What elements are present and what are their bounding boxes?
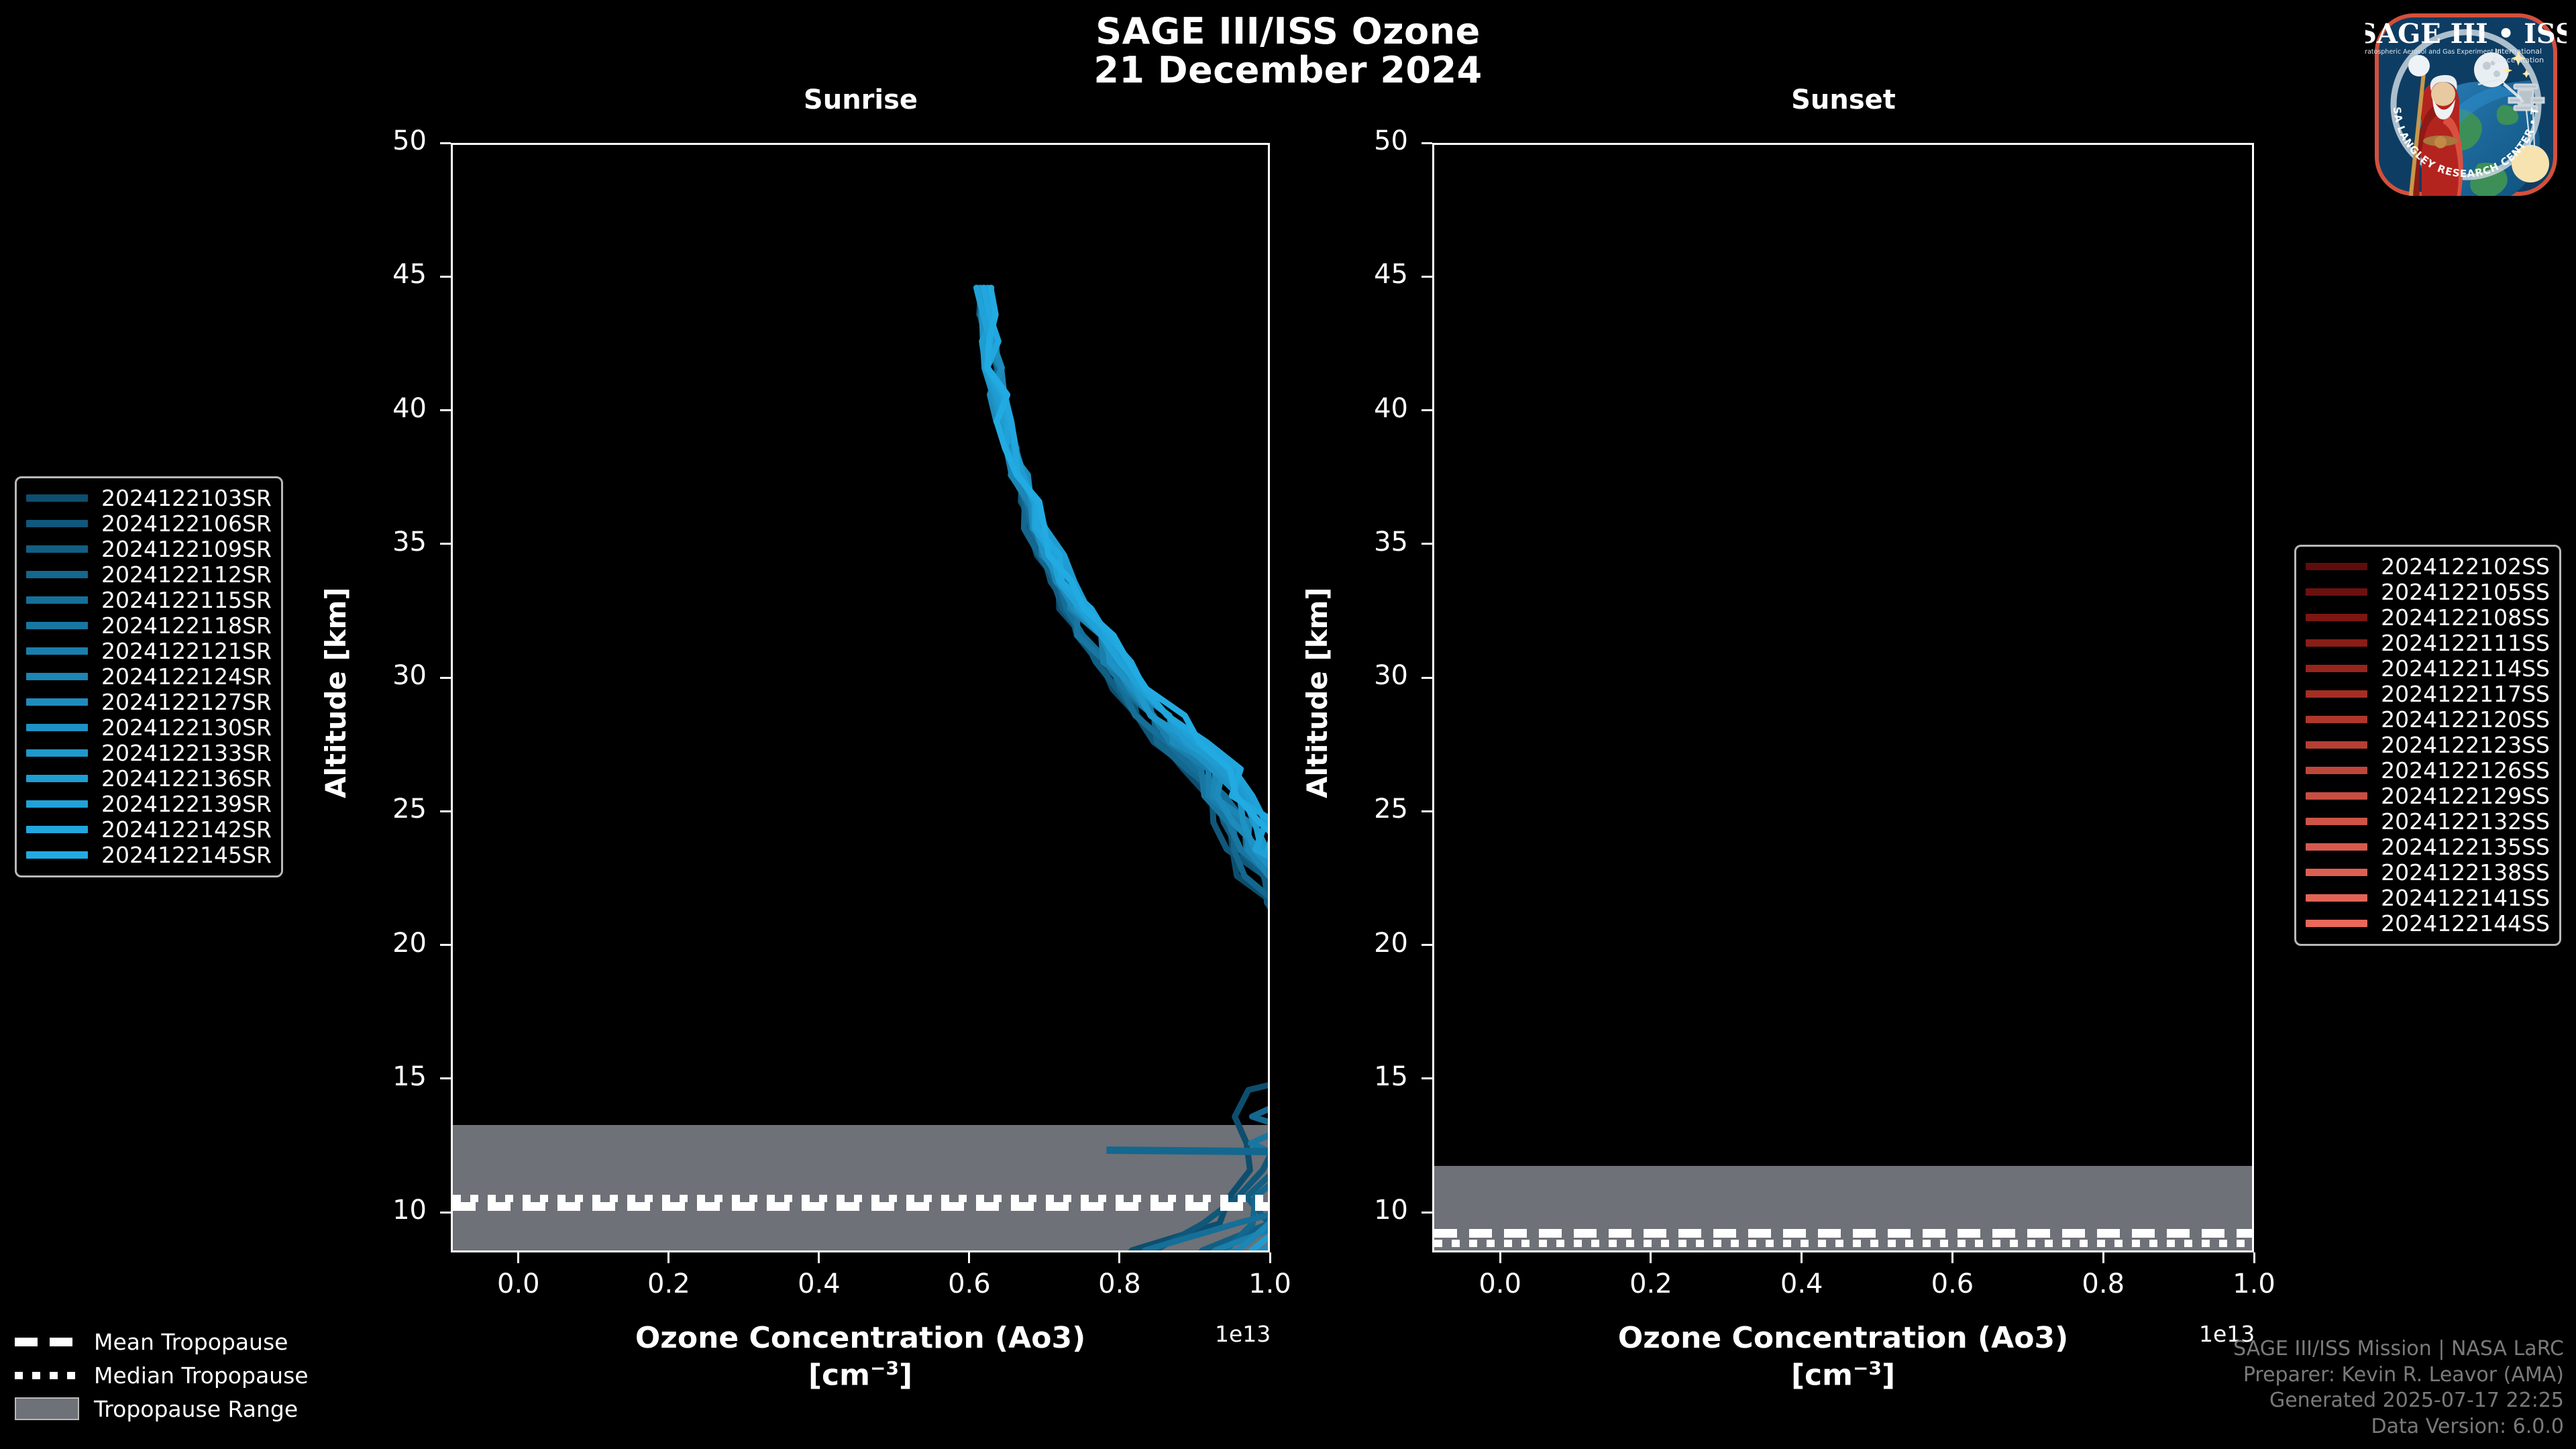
legend-item[interactable]: 2024122111SS xyxy=(2306,630,2550,655)
legend-item-label: 2024122120SS xyxy=(2381,706,2550,733)
legend-item-label: 2024122142SR xyxy=(101,816,272,843)
x-axis-label-line-1: Ozone Concentration (Ao3) xyxy=(1392,1320,2294,1356)
x-axis-label-line-1: Ozone Concentration (Ao3) xyxy=(411,1320,1310,1356)
y-tick xyxy=(1421,1212,1432,1214)
x-tick-label: 0.4 xyxy=(1741,1269,1862,1299)
profile-curves-sunrise xyxy=(453,145,1270,1252)
y-tick xyxy=(440,1077,451,1079)
title-line-2: 21 December 2024 xyxy=(0,51,2576,90)
x-tick xyxy=(2102,1252,2104,1263)
legend-item[interactable]: 2024122120SS xyxy=(2306,706,2550,732)
legend-item-label: 2024122126SS xyxy=(2381,757,2550,784)
y-tick-label: 15 xyxy=(343,1061,427,1092)
line-swatch-icon xyxy=(26,545,88,553)
logo-subtitle-right-2: Space Station xyxy=(2493,56,2544,64)
y-tick-label: 50 xyxy=(343,125,427,156)
y-tick-label: 25 xyxy=(343,794,427,824)
line-swatch-icon xyxy=(2306,792,2367,800)
legend-item-label: 2024122109SR xyxy=(101,536,272,562)
legend-item-label: 2024122112SR xyxy=(101,561,272,588)
line-swatch-icon xyxy=(2306,614,2367,621)
legend-item[interactable]: 2024122103SR xyxy=(26,485,272,511)
legend-item[interactable]: 2024122132SS xyxy=(2306,808,2550,834)
y-tick-label: 25 xyxy=(1325,794,1408,824)
x-tick xyxy=(1650,1252,1652,1263)
legend-item-label: 2024122114SS xyxy=(2381,655,2550,682)
y-tick-label: 45 xyxy=(343,259,427,290)
legend-item[interactable]: 2024122130SR xyxy=(26,714,272,740)
x-axis-label-units: [cm−3] xyxy=(411,1356,1310,1394)
y-tick-label: 30 xyxy=(343,660,427,691)
y-tick xyxy=(440,944,451,946)
axes-sunrise xyxy=(451,143,1270,1252)
legend-item[interactable]: 2024122141SS xyxy=(2306,885,2550,910)
x-tick xyxy=(667,1252,669,1263)
credits-line-preparer: Preparer: Kevin R. Leavor (AMA) xyxy=(2233,1362,2564,1388)
legend-item-label: 2024122102SS xyxy=(2381,553,2550,580)
legend-item[interactable]: 2024122142SR xyxy=(26,816,272,842)
line-swatch-icon xyxy=(26,673,88,680)
y-tick xyxy=(440,810,451,812)
y-tick-label: 30 xyxy=(1325,660,1408,691)
y-tick-label: 20 xyxy=(343,928,427,959)
line-swatch-icon xyxy=(26,520,88,527)
y-tick-label: 20 xyxy=(1325,928,1408,959)
legend-item[interactable]: 2024122106SR xyxy=(26,511,272,536)
line-swatch-icon xyxy=(2306,920,2367,927)
y-tick xyxy=(440,142,451,144)
x-tick-label: 1.0 xyxy=(2194,1269,2314,1299)
x-tick-label: 0.2 xyxy=(1591,1269,1711,1299)
units-prefix: [cm xyxy=(808,1358,870,1393)
line-swatch-icon xyxy=(2306,690,2367,698)
legend-item-tropopause-range: Tropopause Range xyxy=(15,1392,309,1426)
legend-item[interactable]: 2024122105SS xyxy=(2306,579,2550,604)
line-swatch-icon xyxy=(2306,741,2367,749)
x-tick xyxy=(1499,1252,1501,1263)
x-tick xyxy=(968,1252,970,1263)
x-tick xyxy=(1801,1252,1803,1263)
legend-item-label: 2024122133SR xyxy=(101,740,272,766)
line-swatch-icon xyxy=(26,749,88,757)
logo-subtitle-left: Stratospheric Aerosol and Gas Experiment… xyxy=(2365,48,2502,56)
x-tick xyxy=(1269,1252,1271,1263)
legend-item[interactable]: 2024122144SS xyxy=(2306,910,2550,936)
units-suffix: ] xyxy=(1882,1358,1895,1393)
x-tick-label: 0.6 xyxy=(909,1269,1030,1299)
line-swatch-icon xyxy=(2306,563,2367,570)
line-swatch-icon xyxy=(2306,588,2367,596)
legend-item-median-tropopause: Median Tropopause xyxy=(15,1358,309,1392)
y-tick xyxy=(440,677,451,679)
y-tick xyxy=(440,1212,451,1214)
legend-item-label: 2024122138SS xyxy=(2381,859,2550,885)
y-tick-label: 35 xyxy=(1325,527,1408,557)
legend-item-label: 2024122105SS xyxy=(2381,579,2550,605)
line-swatch-icon xyxy=(2306,818,2367,825)
median-tropopause-line xyxy=(453,1195,1268,1202)
legend-item[interactable]: 2024122138SS xyxy=(2306,859,2550,885)
y-tick-label: 45 xyxy=(1325,259,1408,290)
legend-item-label: 2024122132SS xyxy=(2381,808,2550,835)
legend-item-label: 2024122130SR xyxy=(101,714,272,741)
legend-item[interactable]: 2024122136SR xyxy=(26,765,272,791)
line-swatch-icon xyxy=(26,647,88,655)
legend-tropopause: Mean Tropopause Median Tropopause Tropop… xyxy=(15,1325,309,1426)
line-swatch-icon xyxy=(2306,716,2367,723)
x-tick-label: 0.8 xyxy=(2043,1269,2163,1299)
x-tick xyxy=(1951,1252,1953,1263)
units-suffix: ] xyxy=(899,1358,912,1393)
x-tick-label: 0.0 xyxy=(458,1269,579,1299)
line-swatch-icon xyxy=(26,851,88,859)
x-tick-label: 1.0 xyxy=(1210,1269,1330,1299)
y-tick xyxy=(440,543,451,545)
legend-item-label: 2024122124SR xyxy=(101,663,272,690)
legend-item[interactable]: 2024122133SR xyxy=(26,740,272,765)
line-swatch-icon xyxy=(26,698,88,706)
legend-item[interactable]: 2024122129SS xyxy=(2306,783,2550,808)
median-tropopause-line xyxy=(1434,1240,2252,1247)
legend-item[interactable]: 2024122139SR xyxy=(26,791,272,816)
units-exponent: −3 xyxy=(1853,1357,1882,1379)
y-tick xyxy=(1421,543,1432,545)
legend-item-label: 2024122121SR xyxy=(101,638,272,664)
y-tick xyxy=(440,276,451,278)
x-tick xyxy=(818,1252,820,1263)
legend-item-label: 2024122117SS xyxy=(2381,681,2550,707)
legend-item[interactable]: 2024122123SS xyxy=(2306,732,2550,757)
legend-item-label: 2024122106SR xyxy=(101,511,272,537)
y-tick xyxy=(1421,276,1432,278)
line-swatch-icon xyxy=(26,494,88,502)
y-tick xyxy=(1421,944,1432,946)
legend-label-tropopause-range: Tropopause Range xyxy=(94,1396,298,1422)
line-swatch-icon xyxy=(2306,767,2367,774)
dashed-line-swatch-icon xyxy=(15,1338,79,1346)
legend-item[interactable]: 2024122112SR xyxy=(26,561,272,587)
legend-item[interactable]: 2024122108SS xyxy=(2306,604,2550,630)
legend-item-label: 2024122136SR xyxy=(101,765,272,792)
axes-sunset xyxy=(1432,143,2254,1252)
legend-item[interactable]: 2024122115SR xyxy=(26,587,272,612)
profile-curves-sunset xyxy=(1434,145,2254,1252)
legend-item[interactable]: 2024122117SS xyxy=(2306,681,2550,706)
x-axis-label: Ozone Concentration (Ao3)[cm−3] xyxy=(1392,1320,2294,1394)
x-tick-label: 0.8 xyxy=(1059,1269,1180,1299)
credits-line-mission: SAGE III/ISS Mission | NASA LaRC xyxy=(2233,1336,2564,1362)
credits-line-version: Data Version: 6.0.0 xyxy=(2233,1414,2564,1440)
x-tick xyxy=(2253,1252,2255,1263)
credits-line-generated: Generated 2025-07-17 22:25 xyxy=(2233,1388,2564,1413)
legend-item[interactable]: 2024122145SR xyxy=(26,842,272,867)
y-tick xyxy=(1421,142,1432,144)
line-swatch-icon xyxy=(2306,894,2367,902)
legend-item-label: 2024122145SR xyxy=(101,842,272,868)
line-swatch-icon xyxy=(2306,869,2367,876)
x-tick-label: 0.2 xyxy=(608,1269,729,1299)
line-swatch-icon xyxy=(26,775,88,782)
credits-block: SAGE III/ISS Mission | NASA LaRC Prepare… xyxy=(2233,1336,2564,1440)
y-tick-label: 40 xyxy=(343,393,427,424)
legend-item-label: 2024122118SR xyxy=(101,612,272,639)
line-swatch-icon xyxy=(2306,665,2367,672)
profile-line xyxy=(987,288,1270,1252)
legend-item-label: 2024122111SS xyxy=(2381,630,2550,656)
y-axis-label: Altitude [km] xyxy=(319,587,352,798)
legend-label-median-tropopause: Median Tropopause xyxy=(94,1362,309,1389)
legend-item[interactable]: 2024122109SR xyxy=(26,536,272,561)
line-swatch-icon xyxy=(2306,639,2367,647)
y-tick xyxy=(1421,1077,1432,1079)
panel-title-sunrise: Sunrise xyxy=(686,85,1035,115)
y-tick xyxy=(440,409,451,411)
legend-item[interactable]: 2024122102SS xyxy=(2306,553,2550,579)
x-axis-label-units: [cm−3] xyxy=(1392,1356,2294,1394)
y-axis-label: Altitude [km] xyxy=(1301,587,1334,798)
y-tick-label: 40 xyxy=(1325,393,1408,424)
page-title: SAGE III/ISS Ozone 21 December 2024 xyxy=(0,12,2576,91)
legend-item[interactable]: 2024122118SR xyxy=(26,612,272,638)
legend-item-label: 2024122144SS xyxy=(2381,910,2550,936)
legend-item[interactable]: 2024122121SR xyxy=(26,638,272,663)
legend-item-label: 2024122141SS xyxy=(2381,885,2550,911)
legend-item-label: 2024122103SR xyxy=(101,485,272,511)
line-swatch-icon xyxy=(26,826,88,833)
x-tick xyxy=(1118,1252,1120,1263)
legend-item-label: 2024122129SS xyxy=(2381,783,2550,809)
line-swatch-icon xyxy=(2306,843,2367,851)
legend-item-label: 2024122108SS xyxy=(2381,604,2550,631)
dotted-line-swatch-icon xyxy=(15,1372,79,1379)
legend-item-label: 2024122127SR xyxy=(101,689,272,715)
line-swatch-icon xyxy=(26,800,88,808)
logo-subtitle-right-1: International xyxy=(2495,47,2542,56)
legend-item[interactable]: 2024122124SR xyxy=(26,663,272,689)
y-tick xyxy=(1421,409,1432,411)
mean-tropopause-line xyxy=(1434,1229,2252,1238)
legend-item-label: 2024122139SR xyxy=(101,791,272,817)
logo-title: SAGE III • ISS xyxy=(2365,18,2567,50)
x-tick-label: 0.4 xyxy=(759,1269,879,1299)
y-tick-label: 50 xyxy=(1325,125,1408,156)
legend-item-mean-tropopause: Mean Tropopause xyxy=(15,1325,309,1358)
title-line-1: SAGE III/ISS Ozone xyxy=(0,12,2576,51)
units-exponent: −3 xyxy=(870,1357,899,1379)
x-tick-label: 0.0 xyxy=(1440,1269,1560,1299)
panel-title-sunset: Sunset xyxy=(1669,85,2018,115)
line-swatch-icon xyxy=(26,571,88,578)
line-swatch-icon xyxy=(26,622,88,629)
anomaly-spike-line xyxy=(1106,1150,1270,1156)
legend-sunset[interactable]: 2024122102SS2024122105SS2024122108SS2024… xyxy=(2294,545,2561,946)
legend-item-label: 2024122135SS xyxy=(2381,834,2550,860)
sage-iii-iss-mission-patch-logo: BALL • NASA LANGLEY RESEARCH CENTER • TA… xyxy=(2365,4,2567,205)
x-axis-offset-text: 1e13 xyxy=(1215,1321,1271,1347)
y-tick-label: 10 xyxy=(1325,1195,1408,1226)
legend-label-mean-tropopause: Mean Tropopause xyxy=(94,1329,288,1355)
y-tick-label: 15 xyxy=(1325,1061,1408,1092)
legend-sunrise[interactable]: 2024122103SR2024122106SR2024122109SR2024… xyxy=(15,476,283,877)
x-tick-label: 0.6 xyxy=(1892,1269,2012,1299)
mean-tropopause-line xyxy=(453,1202,1268,1211)
y-tick-label: 10 xyxy=(343,1195,427,1226)
x-axis-label: Ozone Concentration (Ao3)[cm−3] xyxy=(411,1320,1310,1394)
band-swatch-icon xyxy=(15,1397,79,1420)
legend-item[interactable]: 2024122135SS xyxy=(2306,834,2550,859)
legend-item-label: 2024122123SS xyxy=(2381,732,2550,758)
line-swatch-icon xyxy=(26,724,88,731)
line-swatch-icon xyxy=(26,596,88,604)
y-tick xyxy=(1421,677,1432,679)
legend-item[interactable]: 2024122127SR xyxy=(26,689,272,714)
legend-item[interactable]: 2024122126SS xyxy=(2306,757,2550,783)
legend-item-label: 2024122115SR xyxy=(101,587,272,613)
units-prefix: [cm xyxy=(1791,1358,1853,1393)
y-tick-label: 35 xyxy=(343,527,427,557)
y-tick xyxy=(1421,810,1432,812)
x-tick xyxy=(517,1252,519,1263)
legend-item[interactable]: 2024122114SS xyxy=(2306,655,2550,681)
